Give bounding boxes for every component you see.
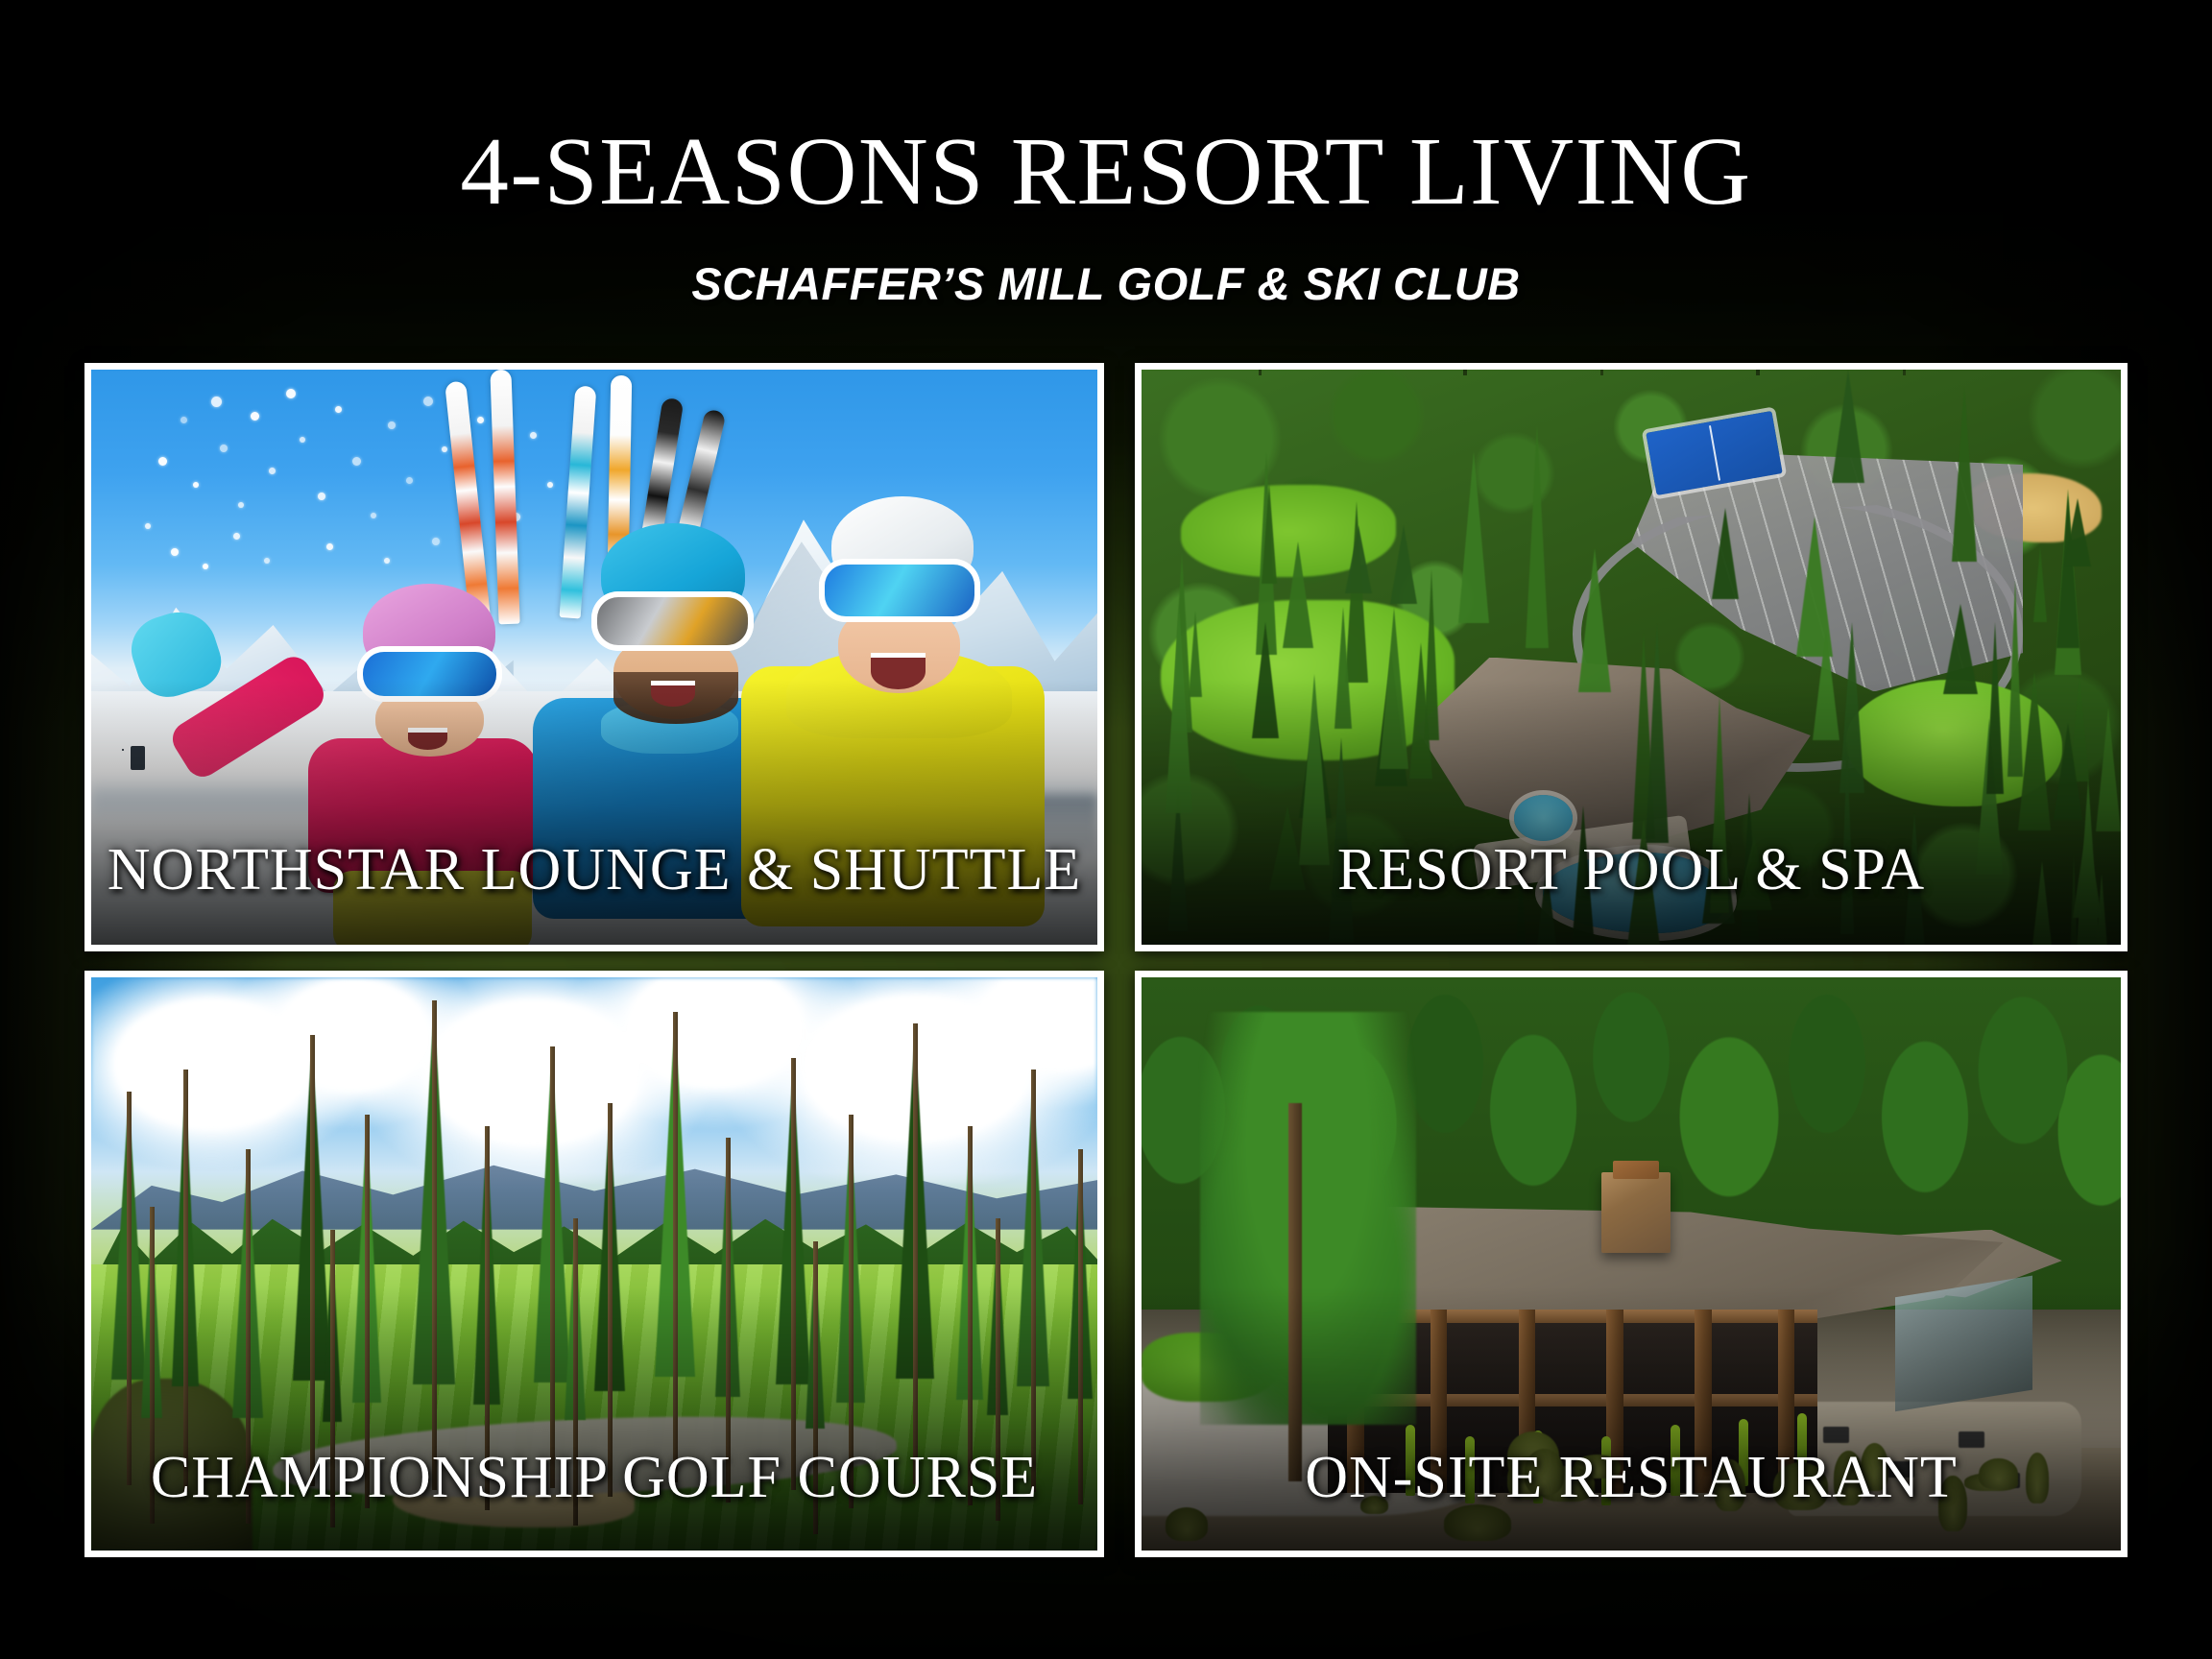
pine-tree bbox=[1262, 483, 1277, 584]
pine-tree bbox=[1526, 424, 1549, 648]
photo-on-site-restaurant: ON-SITE RESTAURANT bbox=[1142, 977, 2121, 1551]
gallery-card-on-site-restaurant[interactable]: ON-SITE RESTAURANT bbox=[1135, 971, 2128, 1557]
photo-championship-golf-course: CHAMPIONSHIP GOLF COURSE bbox=[91, 977, 1097, 1551]
tree-trunk bbox=[310, 1035, 315, 1486]
caption-resort-pool-spa: RESORT POOL & SPA bbox=[1142, 836, 2121, 904]
tree-trunk bbox=[127, 1092, 132, 1485]
stone-chimney bbox=[1601, 1172, 1670, 1253]
tree-trunk bbox=[791, 1058, 796, 1490]
foreground-pine bbox=[1200, 1012, 1415, 1425]
pine-tree bbox=[1409, 642, 1432, 779]
smile bbox=[651, 681, 694, 707]
tree-trunk bbox=[913, 1023, 918, 1484]
pine-tree bbox=[1832, 370, 1864, 483]
pine-tree bbox=[1986, 622, 2004, 794]
tree-trunk bbox=[432, 1000, 437, 1490]
pine-tree bbox=[2033, 546, 2047, 622]
pine-tree bbox=[2054, 723, 2082, 820]
tree-trunk bbox=[550, 1046, 555, 1488]
page-subtitle: SCHAFFER’S MILL GOLF & SKI CLUB bbox=[0, 257, 2212, 310]
tree-trunk bbox=[673, 1012, 678, 1482]
pine-tree bbox=[1252, 622, 1279, 738]
gallery-card-northstar-lounge-shuttle[interactable]: NORTHSTAR LOUNGE & SHUTTLE bbox=[84, 363, 1104, 951]
photo-northstar-lounge-shuttle: NORTHSTAR LOUNGE & SHUTTLE bbox=[91, 370, 1097, 945]
tree-trunk bbox=[1031, 1070, 1036, 1492]
page-title: 4-SEASONS RESORT LIVING bbox=[0, 123, 2212, 220]
pine-tree bbox=[1578, 548, 1611, 692]
pine-tree bbox=[1796, 517, 1833, 657]
pine-tree bbox=[1458, 451, 1489, 623]
tree-trunk bbox=[183, 1070, 188, 1492]
gallery-card-resort-pool-spa[interactable]: RESORT POOL & SPA bbox=[1135, 363, 2128, 951]
pine-tree bbox=[2008, 580, 2023, 777]
pine-tree bbox=[1646, 623, 1669, 843]
ski-goggles-icon bbox=[357, 646, 502, 702]
foreground-pine-trunk bbox=[1288, 1103, 1302, 1481]
pine-tree bbox=[1283, 541, 1313, 648]
photo-resort-pool-spa: RESORT POOL & SPA bbox=[1142, 370, 2121, 945]
tree-trunk bbox=[608, 1103, 613, 1497]
patio-table bbox=[1823, 1427, 1850, 1443]
caption-on-site-restaurant: ON-SITE RESTAURANT bbox=[1142, 1444, 2121, 1512]
pine-tree bbox=[1712, 508, 1739, 599]
pine-tree bbox=[2064, 498, 2091, 566]
pine-tree bbox=[1380, 608, 1408, 769]
pine-tree bbox=[1189, 611, 1202, 697]
pine-tree bbox=[1952, 386, 1977, 562]
ski-goggles-icon bbox=[591, 591, 754, 651]
ski-goggles-icon bbox=[819, 559, 980, 621]
wing-glass-wall bbox=[1895, 1276, 2032, 1412]
pine-tree bbox=[1345, 525, 1372, 593]
pine-tree bbox=[1943, 604, 1978, 694]
brush-shrub bbox=[1166, 1507, 1208, 1541]
smile bbox=[408, 728, 447, 750]
pine-tree bbox=[1334, 607, 1352, 729]
caption-northstar-lounge-shuttle: NORTHSTAR LOUNGE & SHUTTLE bbox=[91, 836, 1097, 904]
pine-tree bbox=[1390, 525, 1417, 604]
pine-tree bbox=[2018, 671, 2051, 830]
gallery-card-championship-golf-course[interactable]: CHAMPIONSHIP GOLF COURSE bbox=[84, 971, 1104, 1557]
smile bbox=[871, 653, 926, 688]
caption-championship-golf-course: CHAMPIONSHIP GOLF COURSE bbox=[91, 1444, 1097, 1512]
photo-gallery-grid: NORTHSTAR LOUNGE & SHUTTLE bbox=[84, 363, 2128, 1557]
